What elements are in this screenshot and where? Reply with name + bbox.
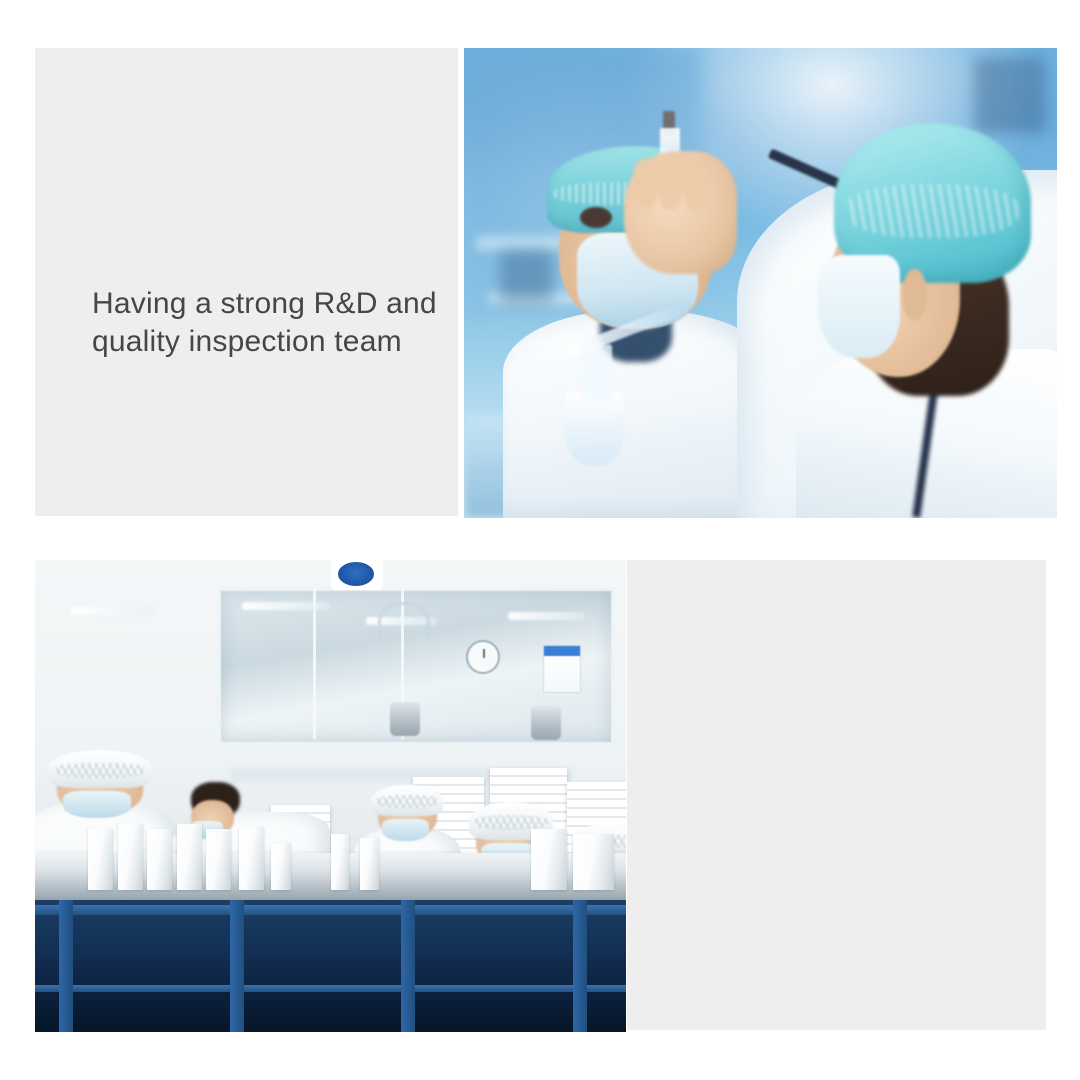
hairnet [371,785,443,816]
carton [239,827,264,891]
table-rail [35,985,626,992]
ear [902,269,927,321]
carton [360,838,379,890]
face-mask [63,791,131,818]
section-warehouse: a warehouse distribution area a warehous… [0,556,1080,1034]
carton [147,829,172,890]
carton [177,824,202,890]
section-rnd-quality: Having a strong R&D and quality inspecti… [0,0,1080,520]
ceiling-light [242,602,331,610]
table-leg [230,900,244,1032]
face-mask [818,255,900,358]
table-underside [35,900,626,1032]
carton [206,829,231,890]
carton [118,824,143,890]
window-mullion [313,588,316,739]
stainless-vessel [390,702,420,736]
carton [573,834,614,891]
stainless-vessel [531,706,561,740]
blue-logo-sign [331,560,383,590]
caption-rnd-quality: Having a strong R&D and quality inspecti… [92,285,492,362]
carton [88,829,113,890]
gloved-hand [624,151,737,273]
finger [658,154,683,210]
glass-flask [565,391,624,466]
wall-notice-poster [543,645,581,693]
caption-panel-top: Having a strong R&D and quality inspecti… [35,48,458,516]
table-rail [35,905,626,915]
carton [331,834,350,891]
finger [633,159,658,208]
table-leg [573,900,587,1032]
lab-rnd-photo [464,48,1057,518]
caption-panel-bottom: a warehouse distribution area a warehous… [627,560,1046,1030]
table-leg [401,900,415,1032]
lab-worker-right [796,48,1057,518]
carton [271,843,291,890]
table-leg [59,900,73,1032]
flask-neck [583,344,613,400]
ceiling-hose [378,602,430,639]
warehouse-packing-photo [35,560,626,1032]
hairnet [48,750,152,787]
face-mask [382,819,429,842]
carton [531,829,566,890]
ceiling-light [508,612,585,620]
ceiling-light [70,607,153,615]
finger [683,161,708,210]
